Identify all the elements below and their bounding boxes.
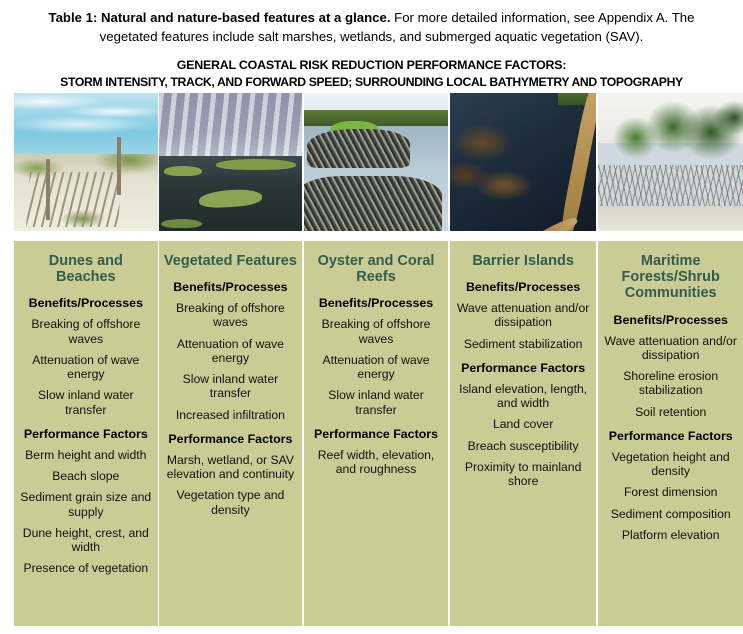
shoreline-grass-band <box>304 110 448 127</box>
feature-column-vegetated-features: Vegetated Features Benefits/Processes Br… <box>159 93 303 626</box>
benefit-item: Sediment stabilization <box>455 337 592 351</box>
marsh-flat-icon <box>450 112 558 214</box>
benefit-item: Wave attenuation and/or dissipation <box>603 334 738 363</box>
shrub-thicket-icon <box>598 165 743 212</box>
performance-factor-item: Presence of vegetation <box>19 561 153 575</box>
performance-factor-item: Island elevation, length, and width <box>455 382 592 411</box>
benefit-item: Slow inland water transfer <box>19 388 153 417</box>
photo-sky <box>159 93 303 159</box>
sand-fence-icon <box>26 172 122 227</box>
table-caption-bold: Table 1: Natural and nature-based featur… <box>49 10 391 25</box>
vegetated-features-photo <box>159 93 303 231</box>
benefit-item: Breaking of offshore waves <box>309 317 443 346</box>
performance-factors-block: Performance Factors Berm height and widt… <box>19 427 153 576</box>
marsh-grass-icon <box>161 219 201 229</box>
dunes-and-beaches-photo <box>14 93 158 231</box>
performance-factor-item: Beach slope <box>19 469 153 483</box>
feature-column-maritime-forests-shrub-communities: Maritime Forests/Shrub Communities Benef… <box>598 93 743 626</box>
benefits-heading: Benefits/Processes <box>309 296 443 311</box>
performance-factors-heading: Performance Factors <box>455 361 592 376</box>
general-heading-line-2: STORM INTENSITY, TRACK, AND FORWARD SPEE… <box>12 74 732 91</box>
benefits-heading: Benefits/Processes <box>455 280 592 295</box>
general-performance-factors-heading: GENERAL COASTAL RISK REDUCTION PERFORMAN… <box>12 57 732 90</box>
performance-factor-item: Proximity to mainland shore <box>455 460 592 489</box>
feature-panel: Vegetated Features Benefits/Processes Br… <box>159 241 303 626</box>
performance-factors-block: Performance Factors Reef width, elevatio… <box>309 427 443 476</box>
benefit-item: Attenuation of wave energy <box>164 337 298 366</box>
fence-post-icon <box>46 159 50 220</box>
column-title: Oyster and Coral Reefs <box>309 253 443 285</box>
benefits-heading: Benefits/Processes <box>164 280 298 295</box>
performance-factor-item: Vegetation type and density <box>164 488 298 517</box>
performance-factors-block: Performance Factors Marsh, wetland, or S… <box>164 432 298 517</box>
benefit-item: Increased infiltration <box>164 408 298 422</box>
performance-factor-item: Breach susceptibility <box>455 439 592 453</box>
fence-post-icon <box>117 137 121 195</box>
performance-factors-heading: Performance Factors <box>19 427 153 442</box>
benefit-item: Breaking of offshore waves <box>164 301 298 330</box>
oyster-and-coral-reefs-photo <box>304 93 448 231</box>
benefit-item: Shoreline erosion stabilization <box>603 369 738 398</box>
benefit-item: Attenuation of wave energy <box>19 353 153 382</box>
marsh-grass-icon <box>216 159 296 170</box>
benefit-item: Slow inland water transfer <box>309 388 443 417</box>
performance-factors-heading: Performance Factors <box>603 429 738 444</box>
barrier-islands-photo <box>450 93 597 231</box>
performance-factor-item: Platform elevation <box>603 528 738 542</box>
benefit-item: Soil retention <box>603 405 738 419</box>
performance-factor-item: Sediment grain size and supply <box>19 490 153 519</box>
performance-factor-item: Forest dimension <box>603 485 738 499</box>
performance-factor-item: Berm height and width <box>19 448 153 462</box>
maritime-forests-shrub-communities-photo <box>598 93 743 231</box>
oyster-reef-icon <box>304 176 442 231</box>
performance-factor-item: Vegetation height and density <box>603 450 738 479</box>
feature-columns: Dunes and Beaches Benefits/Processes Bre… <box>0 93 743 626</box>
benefit-item: Wave attenuation and/or dissipation <box>455 301 592 330</box>
feature-column-oyster-and-coral-reefs: Oyster and Coral Reefs Benefits/Processe… <box>304 93 448 626</box>
benefits-heading: Benefits/Processes <box>19 296 153 311</box>
feature-panel: Barrier Islands Benefits/Processes Wave … <box>450 241 597 626</box>
oyster-reef-icon <box>307 129 410 168</box>
column-title: Barrier Islands <box>455 253 592 269</box>
performance-factor-item: Marsh, wetland, or SAV elevation and con… <box>164 453 298 482</box>
marsh-grass-icon <box>164 166 201 176</box>
general-heading-line-1: GENERAL COASTAL RISK REDUCTION PERFORMAN… <box>12 57 732 74</box>
feature-panel: Dunes and Beaches Benefits/Processes Bre… <box>14 241 158 626</box>
performance-factors-heading: Performance Factors <box>164 432 298 447</box>
benefit-item: Slow inland water transfer <box>164 372 298 401</box>
benefit-item: Breaking of offshore waves <box>19 317 153 346</box>
column-title: Vegetated Features <box>164 253 298 269</box>
feature-column-dunes-and-beaches: Dunes and Beaches Benefits/Processes Bre… <box>14 93 158 626</box>
benefit-item: Attenuation of wave energy <box>309 353 443 382</box>
performance-factors-block: Performance Factors Island elevation, le… <box>455 361 592 488</box>
performance-factor-item: Sediment composition <box>603 507 738 521</box>
benefits-heading: Benefits/Processes <box>603 313 738 328</box>
feature-panel: Maritime Forests/Shrub Communities Benef… <box>598 241 743 626</box>
performance-factors-block: Performance Factors Vegetation height an… <box>603 429 738 542</box>
performance-factors-heading: Performance Factors <box>309 427 443 442</box>
feature-column-barrier-islands: Barrier Islands Benefits/Processes Wave … <box>450 93 597 626</box>
column-title: Dunes and Beaches <box>19 253 153 285</box>
column-title: Maritime Forests/Shrub Communities <box>603 253 738 302</box>
feature-panel: Oyster and Coral Reefs Benefits/Processe… <box>304 241 448 626</box>
sand-ground <box>598 206 743 231</box>
performance-factor-item: Reef width, elevation, and roughness <box>309 448 443 477</box>
performance-factor-item: Dune height, crest, and width <box>19 526 153 555</box>
table-caption: Table 1: Natural and nature-based featur… <box>22 0 722 46</box>
performance-factor-item: Land cover <box>455 417 592 431</box>
